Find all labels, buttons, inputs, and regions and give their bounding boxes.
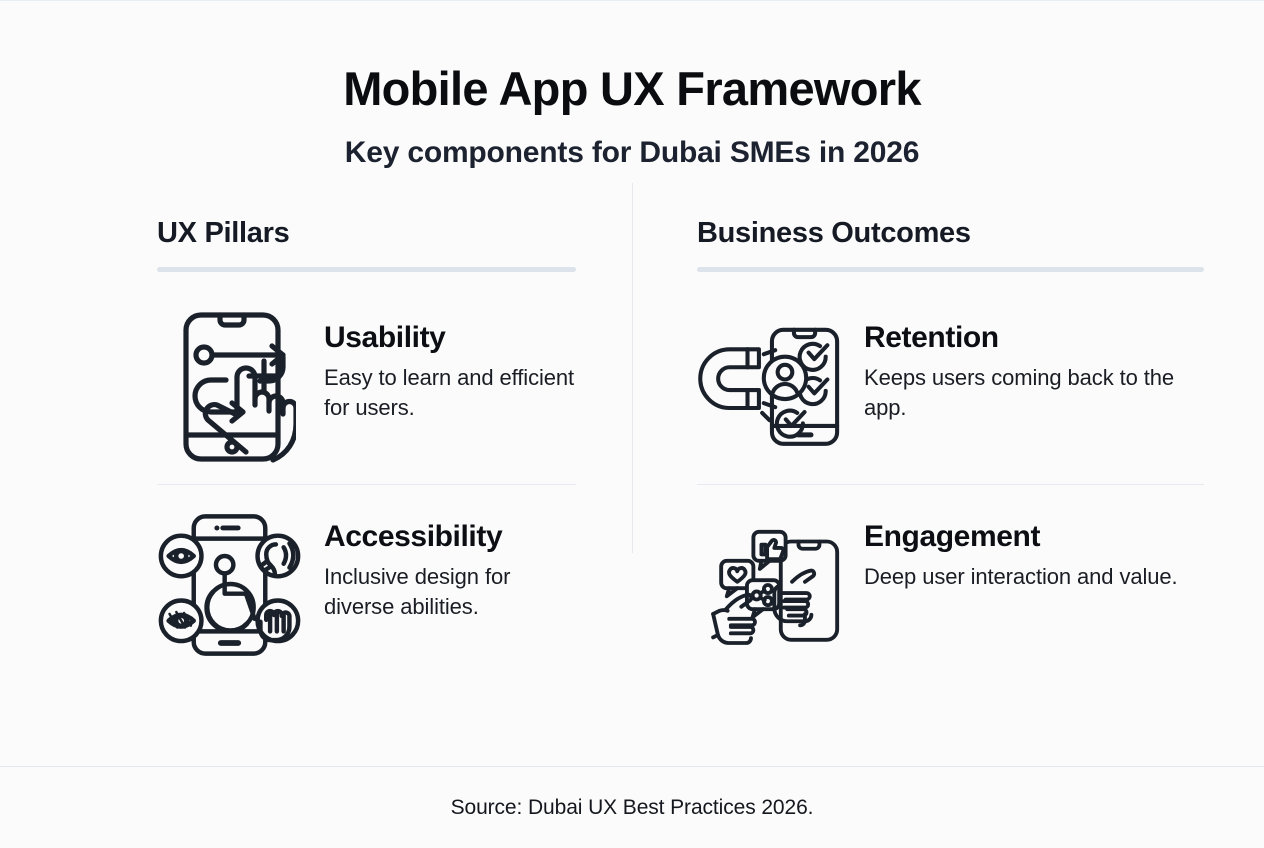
items-list-business-outcomes: Retention Keeps users coming back to the… <box>697 298 1204 665</box>
column-business-outcomes: Business Outcomes <box>632 218 1264 766</box>
header: Mobile App UX Framework Key components f… <box>0 1 1264 170</box>
column-heading-ux-pillars: UX Pillars <box>157 218 576 250</box>
column-ux-pillars: UX Pillars <box>0 218 632 766</box>
list-item[interactable]: Engagement Deep user interaction and val… <box>697 497 1204 665</box>
page-title: Mobile App UX Framework <box>0 63 1264 116</box>
column-heading-rule <box>697 267 1204 272</box>
list-item[interactable]: Retention Keeps users coming back to the… <box>697 298 1204 466</box>
footer: Source: Dubai UX Best Practices 2026. <box>0 766 1264 848</box>
item-divider <box>157 484 576 485</box>
item-divider <box>697 484 1204 485</box>
column-heading-business-outcomes: Business Outcomes <box>697 218 1204 250</box>
phone-accessibility-wheelchair-icon <box>157 505 302 665</box>
phone-gesture-hand-icon <box>157 306 302 466</box>
infographic-page: Mobile App UX Framework Key components f… <box>0 0 1264 848</box>
list-item-text: Engagement Deep user interaction and val… <box>864 505 1204 592</box>
list-item[interactable]: Accessibility Inclusive design for diver… <box>157 497 576 665</box>
list-item-title: Retention <box>864 322 1204 354</box>
columns-container: UX Pillars <box>0 170 1264 766</box>
list-item-description: Deep user interaction and value. <box>864 562 1204 591</box>
magnet-user-phone-checklist-icon <box>697 306 842 466</box>
list-item-description: Inclusive design for diverse abilities. <box>324 562 576 621</box>
list-item-text: Retention Keeps users coming back to the… <box>864 306 1204 422</box>
list-item-title: Usability <box>324 322 576 354</box>
list-item-description: Easy to learn and efficient for users. <box>324 363 576 422</box>
list-item-text: Usability Easy to learn and efficient fo… <box>324 306 576 422</box>
hands-phone-reactions-icon <box>697 505 842 665</box>
list-item-description: Keeps users coming back to the app. <box>864 363 1204 422</box>
source-text: Source: Dubai UX Best Practices 2026. <box>451 796 814 820</box>
list-item-text: Accessibility Inclusive design for diver… <box>324 505 576 621</box>
page-subtitle: Key components for Dubai SMEs in 2026 <box>0 136 1264 171</box>
list-item-title: Accessibility <box>324 521 576 553</box>
list-item-title: Engagement <box>864 521 1204 553</box>
list-item[interactable]: Usability Easy to learn and efficient fo… <box>157 298 576 466</box>
column-heading-rule <box>157 267 576 272</box>
items-list-ux-pillars: Usability Easy to learn and efficient fo… <box>157 298 576 665</box>
